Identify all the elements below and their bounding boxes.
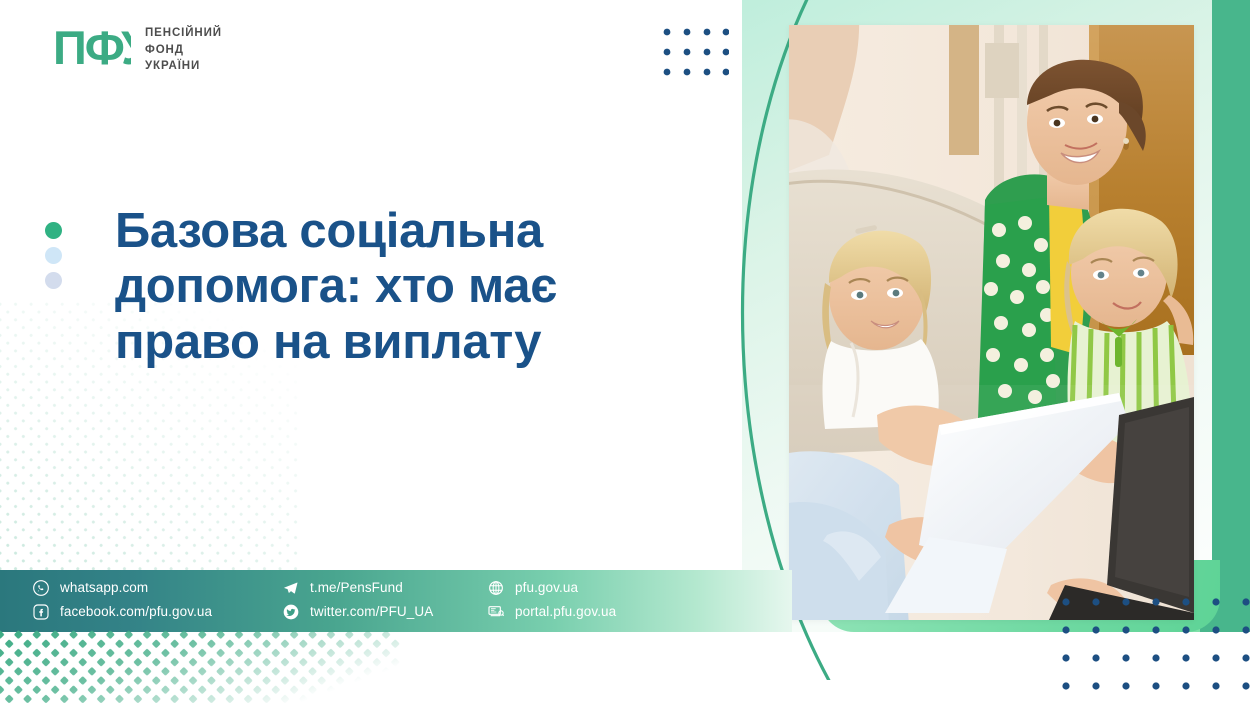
logo-line-3: УКРАЇНИ [145, 60, 222, 74]
page-title-line-2: допомога: хто має [115, 259, 645, 314]
footer-link-portal-label: portal.pfu.gov.ua [515, 605, 616, 619]
pfu-logo[interactable]: ПФУ ПЕНСІЙНИЙ ФОНД УКРАЇНИ [53, 22, 222, 74]
footer-column-social: whatsapp.com facebook.com/pfu.gov.ua [33, 579, 283, 632]
portal-monitor-icon [488, 604, 504, 620]
footer-link-whatsapp-label: whatsapp.com [60, 581, 148, 595]
svg-text:ПФУ: ПФУ [53, 22, 131, 74]
footer-link-website-label: pfu.gov.ua [515, 581, 578, 595]
logo-line-2: ФОНД [145, 44, 222, 58]
bullet-pale-blue-icon [45, 272, 62, 289]
bullet-green-icon [45, 222, 62, 239]
pfu-logo-mark-icon: ПФУ [53, 22, 131, 74]
logo-wordmark: ПЕНСІЙНИЙ ФОНД УКРАЇНИ [145, 22, 222, 74]
bullet-light-blue-icon [45, 247, 62, 264]
page-title-line-1: Базова соціальна [115, 204, 645, 259]
footer-link-twitter[interactable]: twitter.com/PFU_UA [283, 603, 488, 621]
header-dot-grid-decoration [663, 28, 729, 76]
page-title: Базова соціальна допомога: хто має право… [115, 204, 645, 370]
contact-footer-bar: whatsapp.com facebook.com/pfu.gov.ua [0, 570, 792, 632]
footer-link-whatsapp[interactable]: whatsapp.com [33, 579, 283, 597]
bullet-dots-group [45, 222, 62, 289]
footer-column-web: pfu.gov.ua portal.pfu.gov.ua [488, 579, 688, 632]
halftone-texture-bottom-left [0, 630, 400, 703]
facebook-icon [33, 604, 49, 620]
footer-link-facebook[interactable]: facebook.com/pfu.gov.ua [33, 603, 283, 621]
poster-canvas: ПФУ ПЕНСІЙНИЙ ФОНД УКРАЇНИ Базова соціал… [0, 0, 1250, 703]
footer-link-twitter-label: twitter.com/PFU_UA [310, 605, 433, 619]
bottom-right-dot-grid-decoration [1060, 596, 1250, 700]
hero-photo-illustration [789, 25, 1194, 620]
footer-column-messaging: t.me/PensFund twitter.com/PFU_UA [283, 579, 488, 632]
footer-link-website[interactable]: pfu.gov.ua [488, 579, 688, 597]
twitter-icon [283, 604, 299, 620]
telegram-icon [283, 580, 299, 596]
footer-link-portal[interactable]: portal.pfu.gov.ua [488, 603, 688, 621]
whatsapp-icon [33, 580, 49, 596]
hero-photo [789, 25, 1194, 620]
footer-link-telegram[interactable]: t.me/PensFund [283, 579, 488, 597]
page-title-line-3: право на виплату [115, 315, 645, 370]
globe-icon [488, 580, 504, 596]
logo-line-1: ПЕНСІЙНИЙ [145, 27, 222, 41]
footer-link-facebook-label: facebook.com/pfu.gov.ua [60, 605, 212, 619]
footer-link-telegram-label: t.me/PensFund [310, 581, 403, 595]
